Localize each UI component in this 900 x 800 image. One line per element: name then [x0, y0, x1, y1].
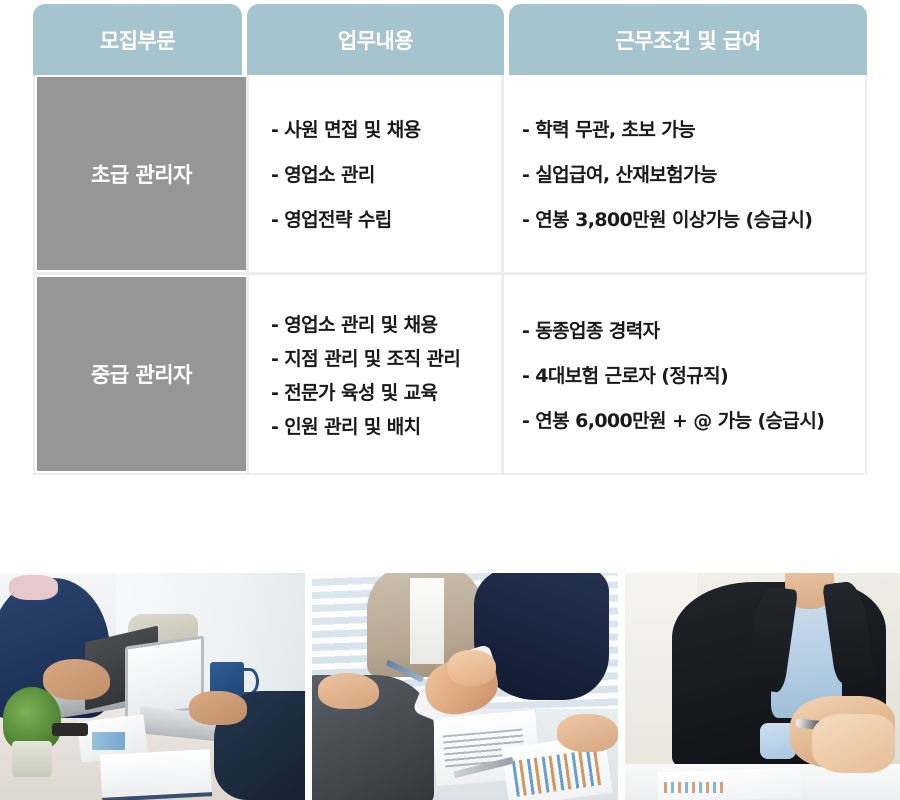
terms-cell-mid: - 동종업종 경력자 - 4대보험 근로자 (정규직) - 연봉 6,000만원… [501, 275, 865, 473]
recruitment-table: 모집부문 업무내용 근무조건 및 급여 초급 관리자 - 사원 면접 및 채용 … [33, 4, 867, 475]
column-header-position: 모집부문 [33, 4, 242, 75]
term-item: - 실업급여, 산재보험가능 [522, 160, 865, 187]
photo3-person-hands-front [812, 714, 895, 773]
position-label: 중급 관리자 [91, 359, 192, 389]
photo2-person-back-shirt [410, 578, 444, 664]
photo1-chart-printout [92, 732, 126, 750]
photo2-handshake-grip [447, 650, 496, 686]
photo1-person-right-hand [189, 691, 247, 725]
photo1-person-left-collar [9, 575, 58, 600]
businesswoman-pen-photo [625, 573, 900, 800]
photo2-person-left-hand [318, 673, 379, 709]
photo1-plant-pot [12, 741, 52, 777]
term-item: - 동종업종 경력자 [522, 316, 865, 343]
duty-item: - 영업소 관리 [271, 160, 501, 187]
duties-cell-mid: - 영업소 관리 및 채용 - 지점 관리 및 조직 관리 - 전문가 육성 및… [246, 275, 501, 473]
table-body: 초급 관리자 - 사원 면접 및 채용 - 영업소 관리 - 영업전략 수립 -… [33, 75, 867, 475]
column-header-duties-label: 업무내용 [338, 25, 413, 55]
term-item: - 연봉 6,000만원 + @ 가능 (승급시) [522, 406, 865, 433]
column-header-position-label: 모집부문 [100, 25, 175, 55]
handshake-contract-photo [312, 573, 618, 800]
table-row: 중급 관리자 - 영업소 관리 및 채용 - 지점 관리 및 조직 관리 - 전… [35, 275, 865, 473]
term-item: - 4대보험 근로자 (정규직) [522, 361, 865, 388]
duty-item: - 인원 관리 및 배치 [271, 412, 501, 439]
position-cell-mid: 중급 관리자 [37, 277, 246, 471]
photo1-notebook [99, 749, 211, 800]
table-header-row: 모집부문 업무내용 근무조건 및 급여 [33, 4, 867, 75]
column-header-terms-label: 근무조건 및 급여 [615, 25, 760, 55]
duty-item: - 사원 면접 및 채용 [271, 115, 501, 142]
duty-item: - 영업전략 수립 [271, 205, 501, 232]
duty-item: - 전문가 육성 및 교육 [271, 378, 501, 405]
term-item: - 학력 무관, 초보 가능 [522, 115, 865, 142]
duty-item: - 영업소 관리 및 채용 [271, 310, 501, 337]
photo2-person-seated-hand [557, 714, 618, 753]
duty-item: - 지점 관리 및 조직 관리 [271, 344, 501, 371]
photo1-person-left-hands [43, 659, 110, 700]
table-row: 초급 관리자 - 사원 면접 및 채용 - 영업소 관리 - 영업전략 수립 -… [35, 75, 865, 275]
position-cell-junior: 초급 관리자 [37, 77, 246, 270]
photo3-paper-chart [664, 782, 725, 793]
photo-strip [0, 573, 900, 800]
term-item: - 연봉 3,800만원 이상가능 (승급시) [522, 205, 865, 232]
duties-cell-junior: - 사원 면접 및 채용 - 영업소 관리 - 영업전략 수립 [246, 75, 501, 272]
column-header-terms: 근무조건 및 급여 [509, 4, 867, 75]
column-header-duties: 업무내용 [247, 4, 504, 75]
office-laptops-photo [0, 573, 305, 800]
position-label: 초급 관리자 [91, 159, 192, 189]
photo1-coffee-cup [55, 727, 86, 777]
terms-cell-junior: - 학력 무관, 초보 가능 - 실업급여, 산재보험가능 - 연봉 3,800… [501, 75, 865, 272]
